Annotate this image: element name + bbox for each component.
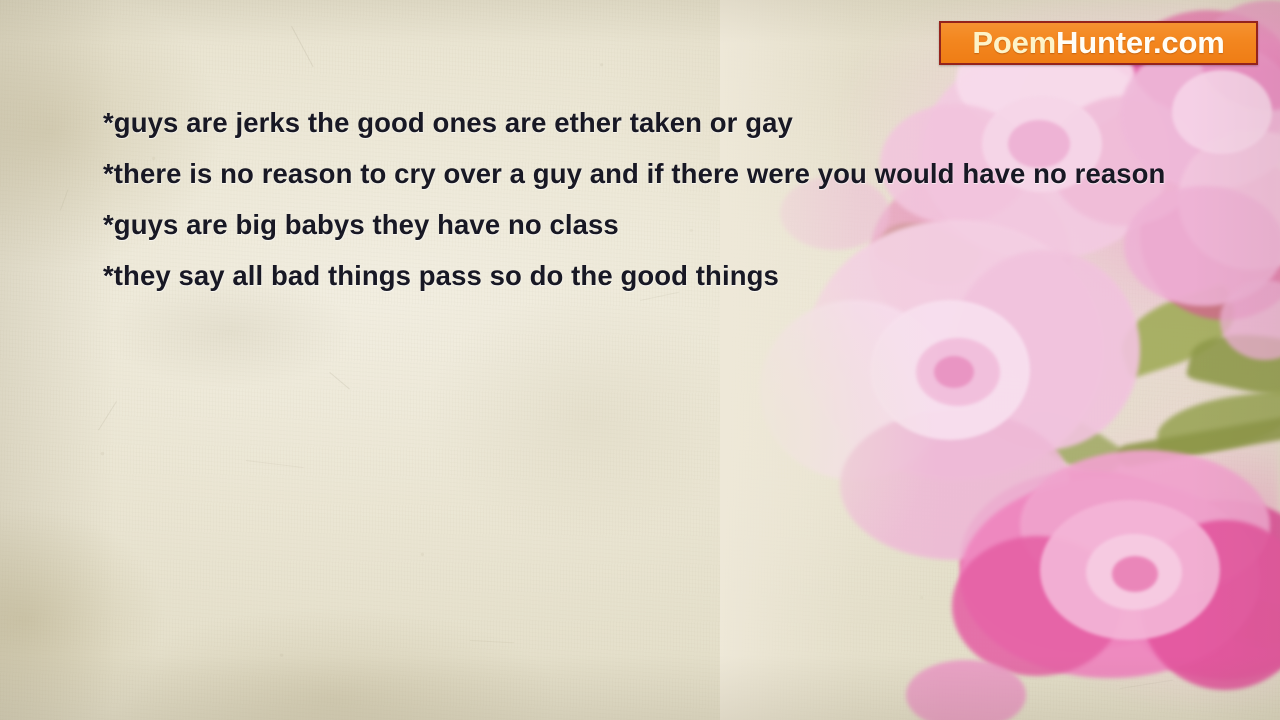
poem-line-1: *guys are jerks the good ones are ether … bbox=[103, 97, 1280, 148]
poem-body: *guys are jerks the good ones are ether … bbox=[103, 97, 1280, 301]
poemhunter-logo-text: PoemHunter.com bbox=[972, 27, 1224, 58]
poemhunter-logo[interactable]: PoemHunter.com bbox=[939, 21, 1258, 65]
logo-text-poem: Poem bbox=[972, 25, 1056, 60]
poem-line-3: *guys are big babys they have no class bbox=[103, 199, 1280, 250]
poem-line-2: *there is no reason to cry over a guy an… bbox=[103, 148, 1280, 199]
logo-text-huntercom: Hunter.com bbox=[1056, 25, 1225, 60]
poem-image-canvas: *guys are jerks the good ones are ether … bbox=[0, 0, 1280, 720]
poem-line-4: *they say all bad things pass so do the … bbox=[103, 250, 1280, 301]
